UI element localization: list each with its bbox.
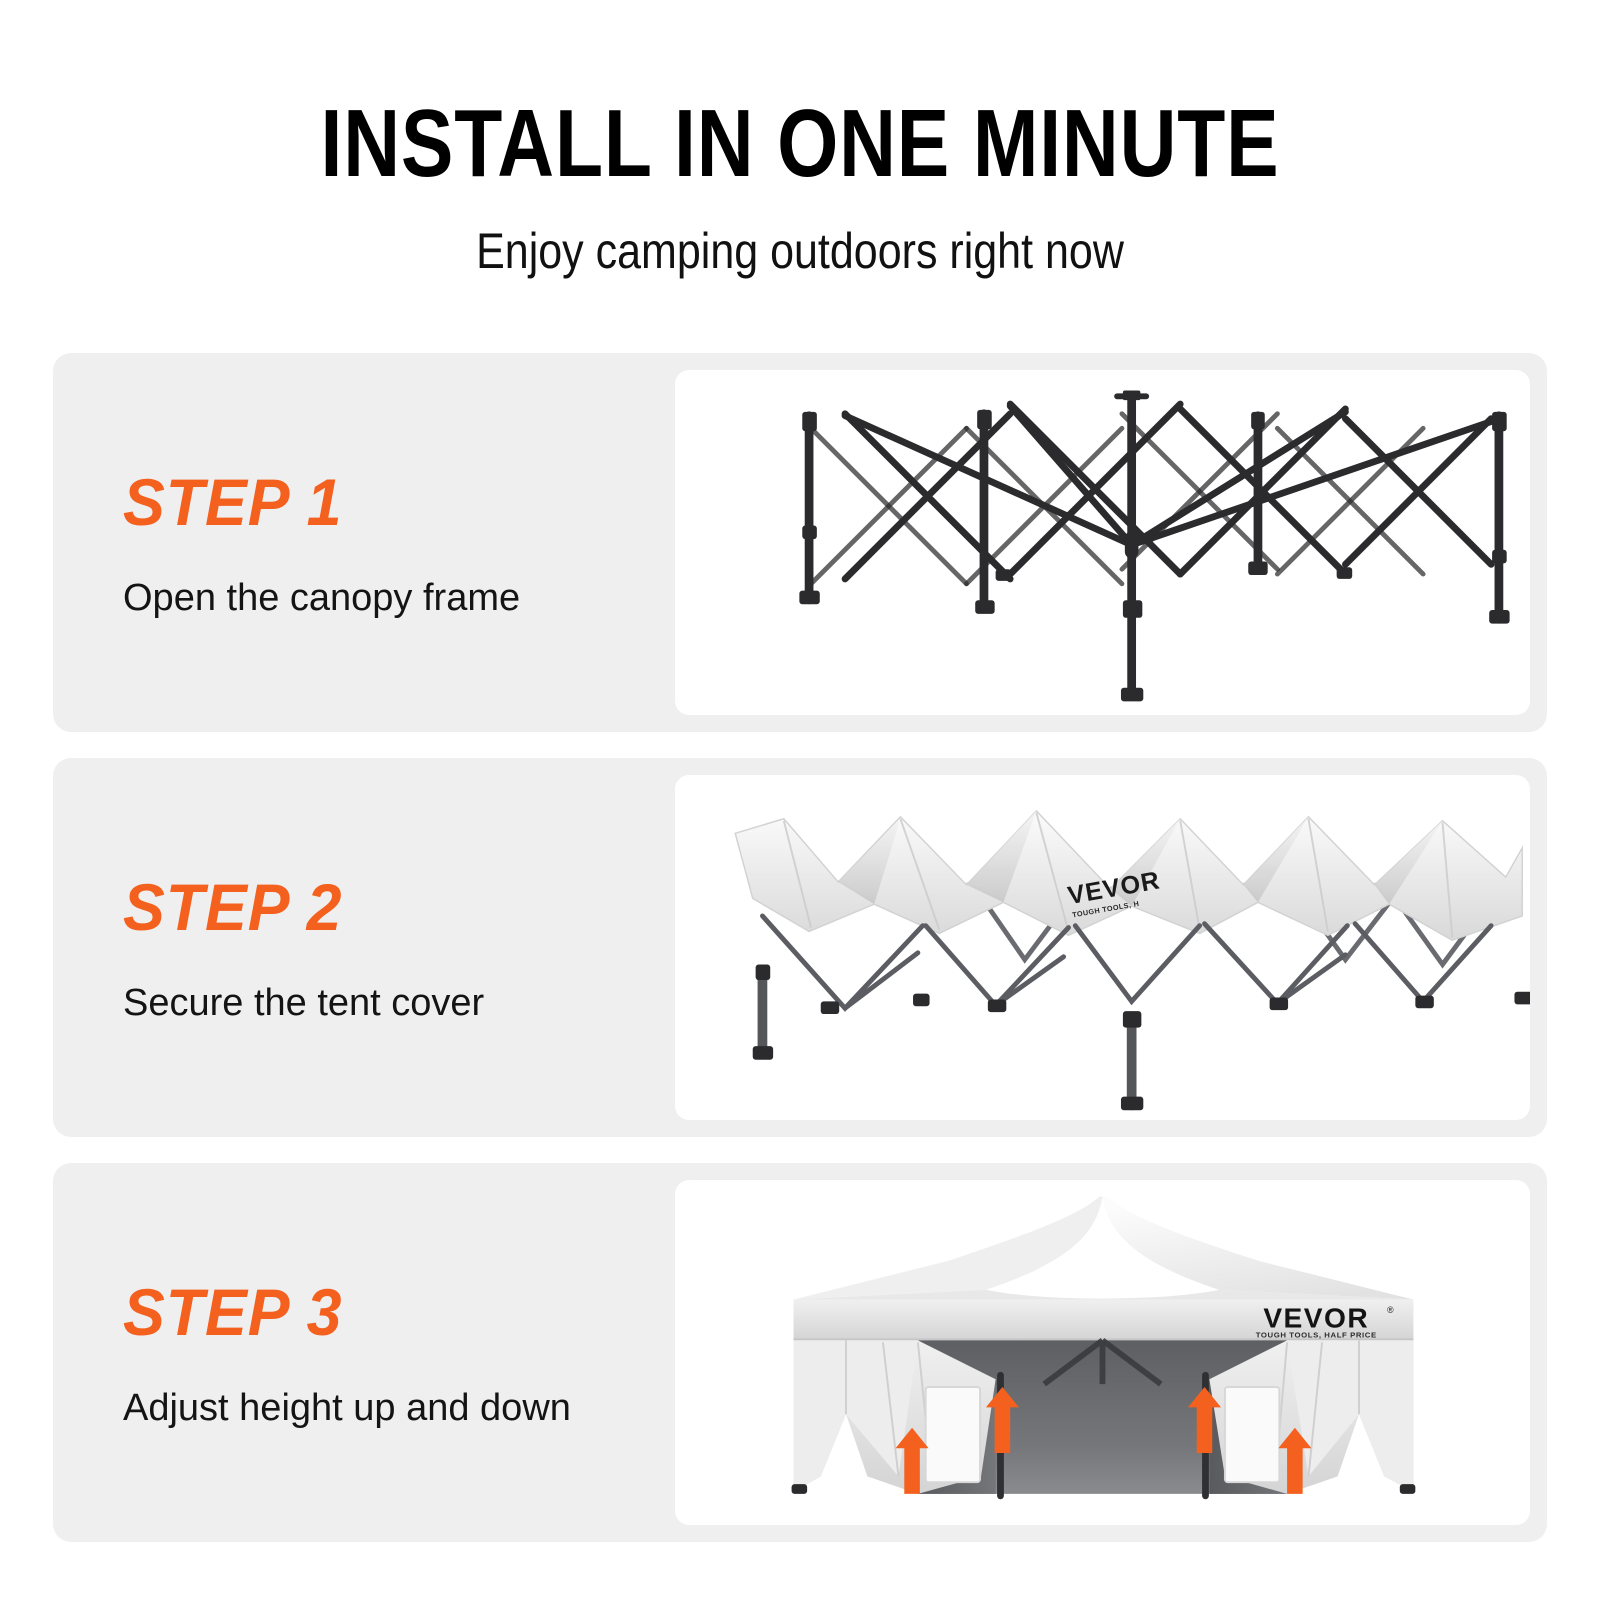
step-1-description: Open the canopy frame: [123, 535, 683, 617]
canopy-frame-open-illustration: [675, 370, 1530, 715]
step-card-3: STEP 3 Adjust height up and down: [53, 1163, 1547, 1542]
step-1-label: STEP 1: [123, 469, 655, 535]
window-right: [1225, 1387, 1279, 1482]
svg-text:TOUGH TOOLS, HALF PRICE: TOUGH TOOLS, HALF PRICE: [1256, 1330, 1377, 1339]
step-3-label: STEP 3: [123, 1279, 655, 1345]
step-card-1: STEP 1 Open the canopy frame: [53, 353, 1547, 732]
page-title: INSTALL IN ONE MINUTE: [144, 96, 1456, 192]
step-3-text-block: STEP 3 Adjust height up and down: [123, 1163, 683, 1542]
steps-list: STEP 1 Open the canopy frame: [53, 353, 1547, 1568]
step-card-2: STEP 2 Secure the tent cover: [53, 758, 1547, 1137]
canopy-height-adjust-illustration: VEVOR ® TOUGH TOOLS, HALF PRICE: [675, 1180, 1530, 1525]
svg-text:VEVOR: VEVOR: [1263, 1302, 1369, 1334]
svg-text:®: ®: [1387, 1305, 1394, 1315]
canopy-cover-attached-illustration: VEVOR TOUGH TOOLS, H: [675, 775, 1530, 1120]
step-1-image-panel: [675, 370, 1530, 715]
step-2-image-panel: VEVOR TOUGH TOOLS, H: [675, 775, 1530, 1120]
page-header: INSTALL IN ONE MINUTE Enjoy camping outd…: [0, 0, 1600, 276]
page-subtitle: Enjoy camping outdoors right now: [112, 192, 1488, 276]
step-3-image-panel: VEVOR ® TOUGH TOOLS, HALF PRICE: [675, 1180, 1530, 1525]
step-1-text-block: STEP 1 Open the canopy frame: [123, 353, 683, 732]
step-2-label: STEP 2: [123, 874, 655, 940]
step-2-description: Secure the tent cover: [123, 940, 683, 1022]
step-3-description: Adjust height up and down: [123, 1345, 683, 1427]
step-2-text-block: STEP 2 Secure the tent cover: [123, 758, 683, 1137]
window-left: [926, 1387, 980, 1482]
